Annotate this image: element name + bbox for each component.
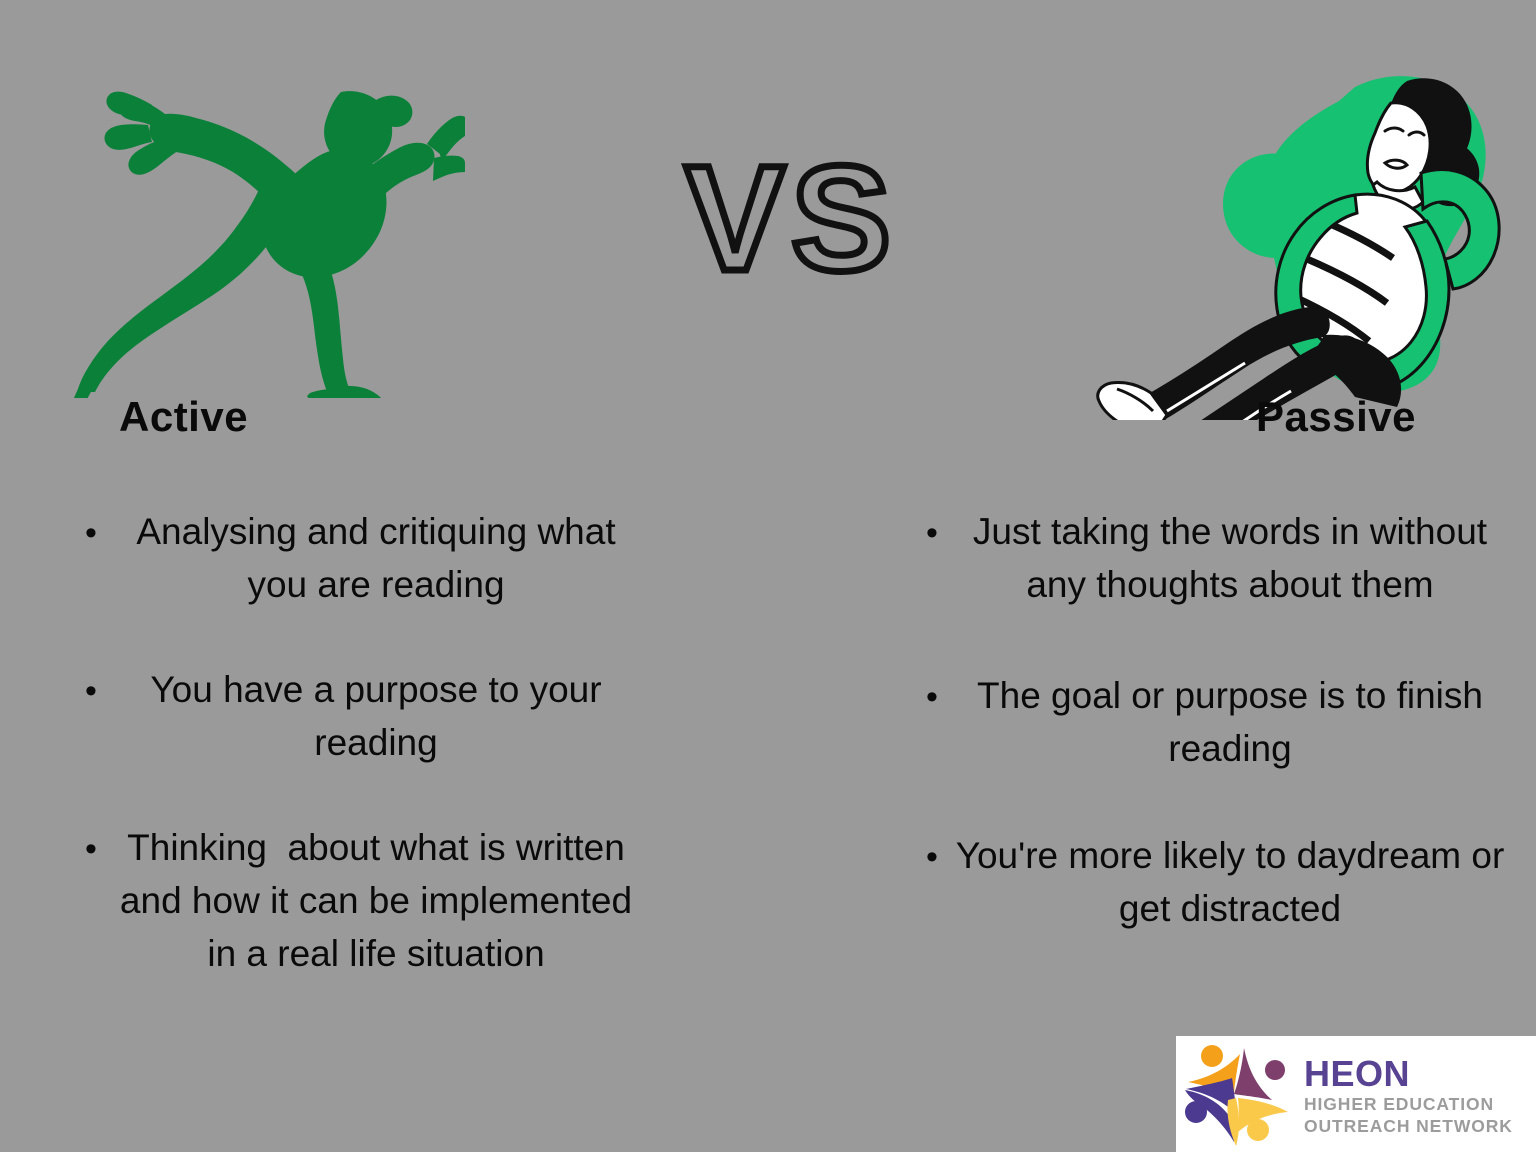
shoe-front bbox=[1098, 382, 1167, 420]
column-heading-active: Active bbox=[119, 396, 248, 438]
bullet-marker-icon: • bbox=[919, 669, 945, 725]
list-item: • Thinking about what is written and how… bbox=[64, 821, 664, 980]
bullet-marker-icon: • bbox=[78, 663, 104, 719]
list-item-text: Analysing and critiquing what you are re… bbox=[106, 505, 664, 611]
list-item: • Just taking the words in without any t… bbox=[905, 505, 1519, 611]
list-item-text: You're more likely to daydream or get di… bbox=[947, 829, 1519, 935]
heon-tagline-line1: HIGHER EDUCATION bbox=[1304, 1093, 1513, 1115]
heon-star-mark-icon bbox=[1182, 1042, 1294, 1146]
infographic-canvas: VS Active Passive • Analysing and critiq… bbox=[0, 0, 1536, 1152]
versus-label: VS bbox=[666, 143, 916, 293]
heon-logo-text: HEON HIGHER EDUCATION OUTREACH NETWORK bbox=[1304, 1051, 1513, 1138]
list-item: • The goal or purpose is to finish readi… bbox=[905, 669, 1519, 775]
list-item: • Analysing and critiquing what you are … bbox=[64, 505, 664, 611]
bullet-marker-icon: • bbox=[78, 505, 104, 561]
bullet-marker-icon: • bbox=[919, 829, 945, 885]
list-item-text: Just taking the words in without any tho… bbox=[947, 505, 1519, 611]
reclining-person-illustration bbox=[1055, 45, 1525, 420]
column-heading-passive: Passive bbox=[1256, 396, 1416, 438]
bullet-marker-icon: • bbox=[78, 821, 104, 877]
list-item: • You're more likely to daydream or get … bbox=[905, 829, 1519, 935]
list-item-text: Thinking about what is written and how i… bbox=[106, 821, 664, 980]
active-bullet-list: • Analysing and critiquing what you are … bbox=[64, 505, 664, 1030]
bullet-marker-icon: • bbox=[919, 505, 945, 561]
running-person-silhouette-icon bbox=[55, 48, 465, 398]
list-item: • You have a purpose to your reading bbox=[64, 663, 664, 769]
list-item-text: The goal or purpose is to finish reading bbox=[947, 669, 1519, 775]
passive-bullet-list: • Just taking the words in without any t… bbox=[905, 505, 1519, 985]
heon-tagline-line2: OUTREACH NETWORK bbox=[1304, 1115, 1513, 1137]
heon-wordmark: HEON bbox=[1304, 1055, 1513, 1093]
list-item-text: You have a purpose to your reading bbox=[106, 663, 664, 769]
heon-logo: HEON HIGHER EDUCATION OUTREACH NETWORK bbox=[1176, 1036, 1536, 1152]
